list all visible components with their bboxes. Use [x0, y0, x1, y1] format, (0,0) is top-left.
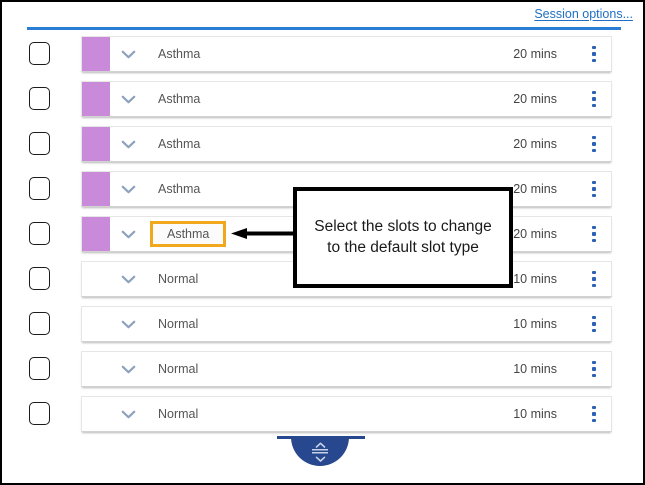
slot-type-color-bar — [82, 127, 110, 161]
screenshot-canvas: Session options... Asthma20 minsAsthma20… — [0, 0, 645, 485]
chevron-down-icon[interactable] — [110, 275, 146, 284]
slot-type-label[interactable]: Asthma — [146, 137, 513, 151]
chevron-down-icon[interactable] — [110, 185, 146, 194]
header-divider — [27, 27, 621, 30]
slot-checkbox[interactable] — [29, 132, 50, 155]
slot-type-label[interactable]: Normal — [146, 317, 513, 331]
slot-overflow-menu-icon[interactable] — [577, 226, 611, 243]
chevron-down-icon — [315, 456, 326, 462]
slot-checkbox[interactable] — [29, 402, 50, 425]
chevron-down-icon[interactable] — [110, 140, 146, 149]
slot-type-color-bar — [82, 37, 110, 71]
slot-row: Normal10 mins — [2, 394, 645, 439]
annotation-callout-text: Select the slots to change to the defaul… — [297, 217, 509, 259]
slot-card[interactable]: Normal10 mins — [81, 396, 612, 432]
annotation-callout: Select the slots to change to the defaul… — [293, 187, 513, 288]
slot-checkbox[interactable] — [29, 177, 50, 200]
session-options-link[interactable]: Session options... — [534, 7, 633, 21]
slot-duration: 10 mins — [513, 317, 577, 331]
slot-type-color-bar — [82, 397, 110, 431]
slot-card[interactable]: Normal10 mins — [81, 306, 612, 342]
grip-lines-icon — [312, 449, 328, 455]
slot-overflow-menu-icon[interactable] — [577, 46, 611, 63]
slot-overflow-menu-icon[interactable] — [577, 361, 611, 378]
slot-overflow-menu-icon[interactable] — [577, 271, 611, 288]
slot-checkbox[interactable] — [29, 312, 50, 335]
slot-checkbox[interactable] — [29, 87, 50, 110]
slot-overflow-menu-icon[interactable] — [577, 136, 611, 153]
slot-type-label-highlighted[interactable]: Asthma — [150, 221, 226, 247]
chevron-down-icon[interactable] — [110, 230, 146, 239]
slot-type-color-bar — [82, 352, 110, 386]
slot-type-color-bar — [82, 262, 110, 296]
slot-duration: 20 mins — [513, 47, 577, 61]
panel-header: Session options... — [2, 2, 645, 32]
slot-row: Normal10 mins — [2, 304, 645, 349]
panel-resize-zone — [2, 436, 645, 466]
chevron-down-icon[interactable] — [110, 410, 146, 419]
slot-duration: 10 mins — [513, 407, 577, 421]
slot-row: Asthma20 mins — [2, 124, 645, 169]
slot-duration: 20 mins — [513, 227, 577, 241]
slot-checkbox[interactable] — [29, 357, 50, 380]
slot-type-label[interactable]: Asthma — [146, 92, 513, 106]
slot-card[interactable]: Asthma20 mins — [81, 81, 612, 117]
annotation-arrow-icon — [231, 228, 297, 239]
slot-type-color-bar — [82, 82, 110, 116]
chevron-down-icon[interactable] — [110, 320, 146, 329]
slot-row: Normal10 mins — [2, 349, 645, 394]
slot-card[interactable]: Normal10 mins — [81, 351, 612, 387]
slot-type-label[interactable]: Normal — [146, 362, 513, 376]
slot-card[interactable]: Asthma20 mins — [81, 36, 612, 72]
slot-type-color-bar — [82, 172, 110, 206]
slot-type-color-bar — [82, 307, 110, 341]
slot-overflow-menu-icon[interactable] — [577, 91, 611, 108]
slot-type-label[interactable]: Asthma — [146, 47, 513, 61]
slot-row: Asthma20 mins — [2, 79, 645, 124]
slot-checkbox[interactable] — [29, 267, 50, 290]
chevron-up-icon — [315, 442, 326, 448]
slot-duration: 20 mins — [513, 182, 577, 196]
chevron-down-icon[interactable] — [110, 95, 146, 104]
slot-duration: 20 mins — [513, 137, 577, 151]
slot-overflow-menu-icon[interactable] — [577, 406, 611, 423]
slot-overflow-menu-icon[interactable] — [577, 316, 611, 333]
slot-type-color-bar — [82, 217, 110, 251]
chevron-down-icon[interactable] — [110, 50, 146, 59]
slot-checkbox[interactable] — [29, 42, 50, 65]
slot-checkbox[interactable] — [29, 222, 50, 245]
slot-overflow-menu-icon[interactable] — [577, 181, 611, 198]
slot-duration: 10 mins — [513, 362, 577, 376]
slot-duration: 10 mins — [513, 272, 577, 286]
slot-row: Asthma20 mins — [2, 34, 645, 79]
slot-duration: 20 mins — [513, 92, 577, 106]
slot-card[interactable]: Asthma20 mins — [81, 126, 612, 162]
panel-resize-handle[interactable] — [291, 437, 349, 466]
chevron-down-icon[interactable] — [110, 365, 146, 374]
slot-type-label[interactable]: Normal — [146, 407, 513, 421]
